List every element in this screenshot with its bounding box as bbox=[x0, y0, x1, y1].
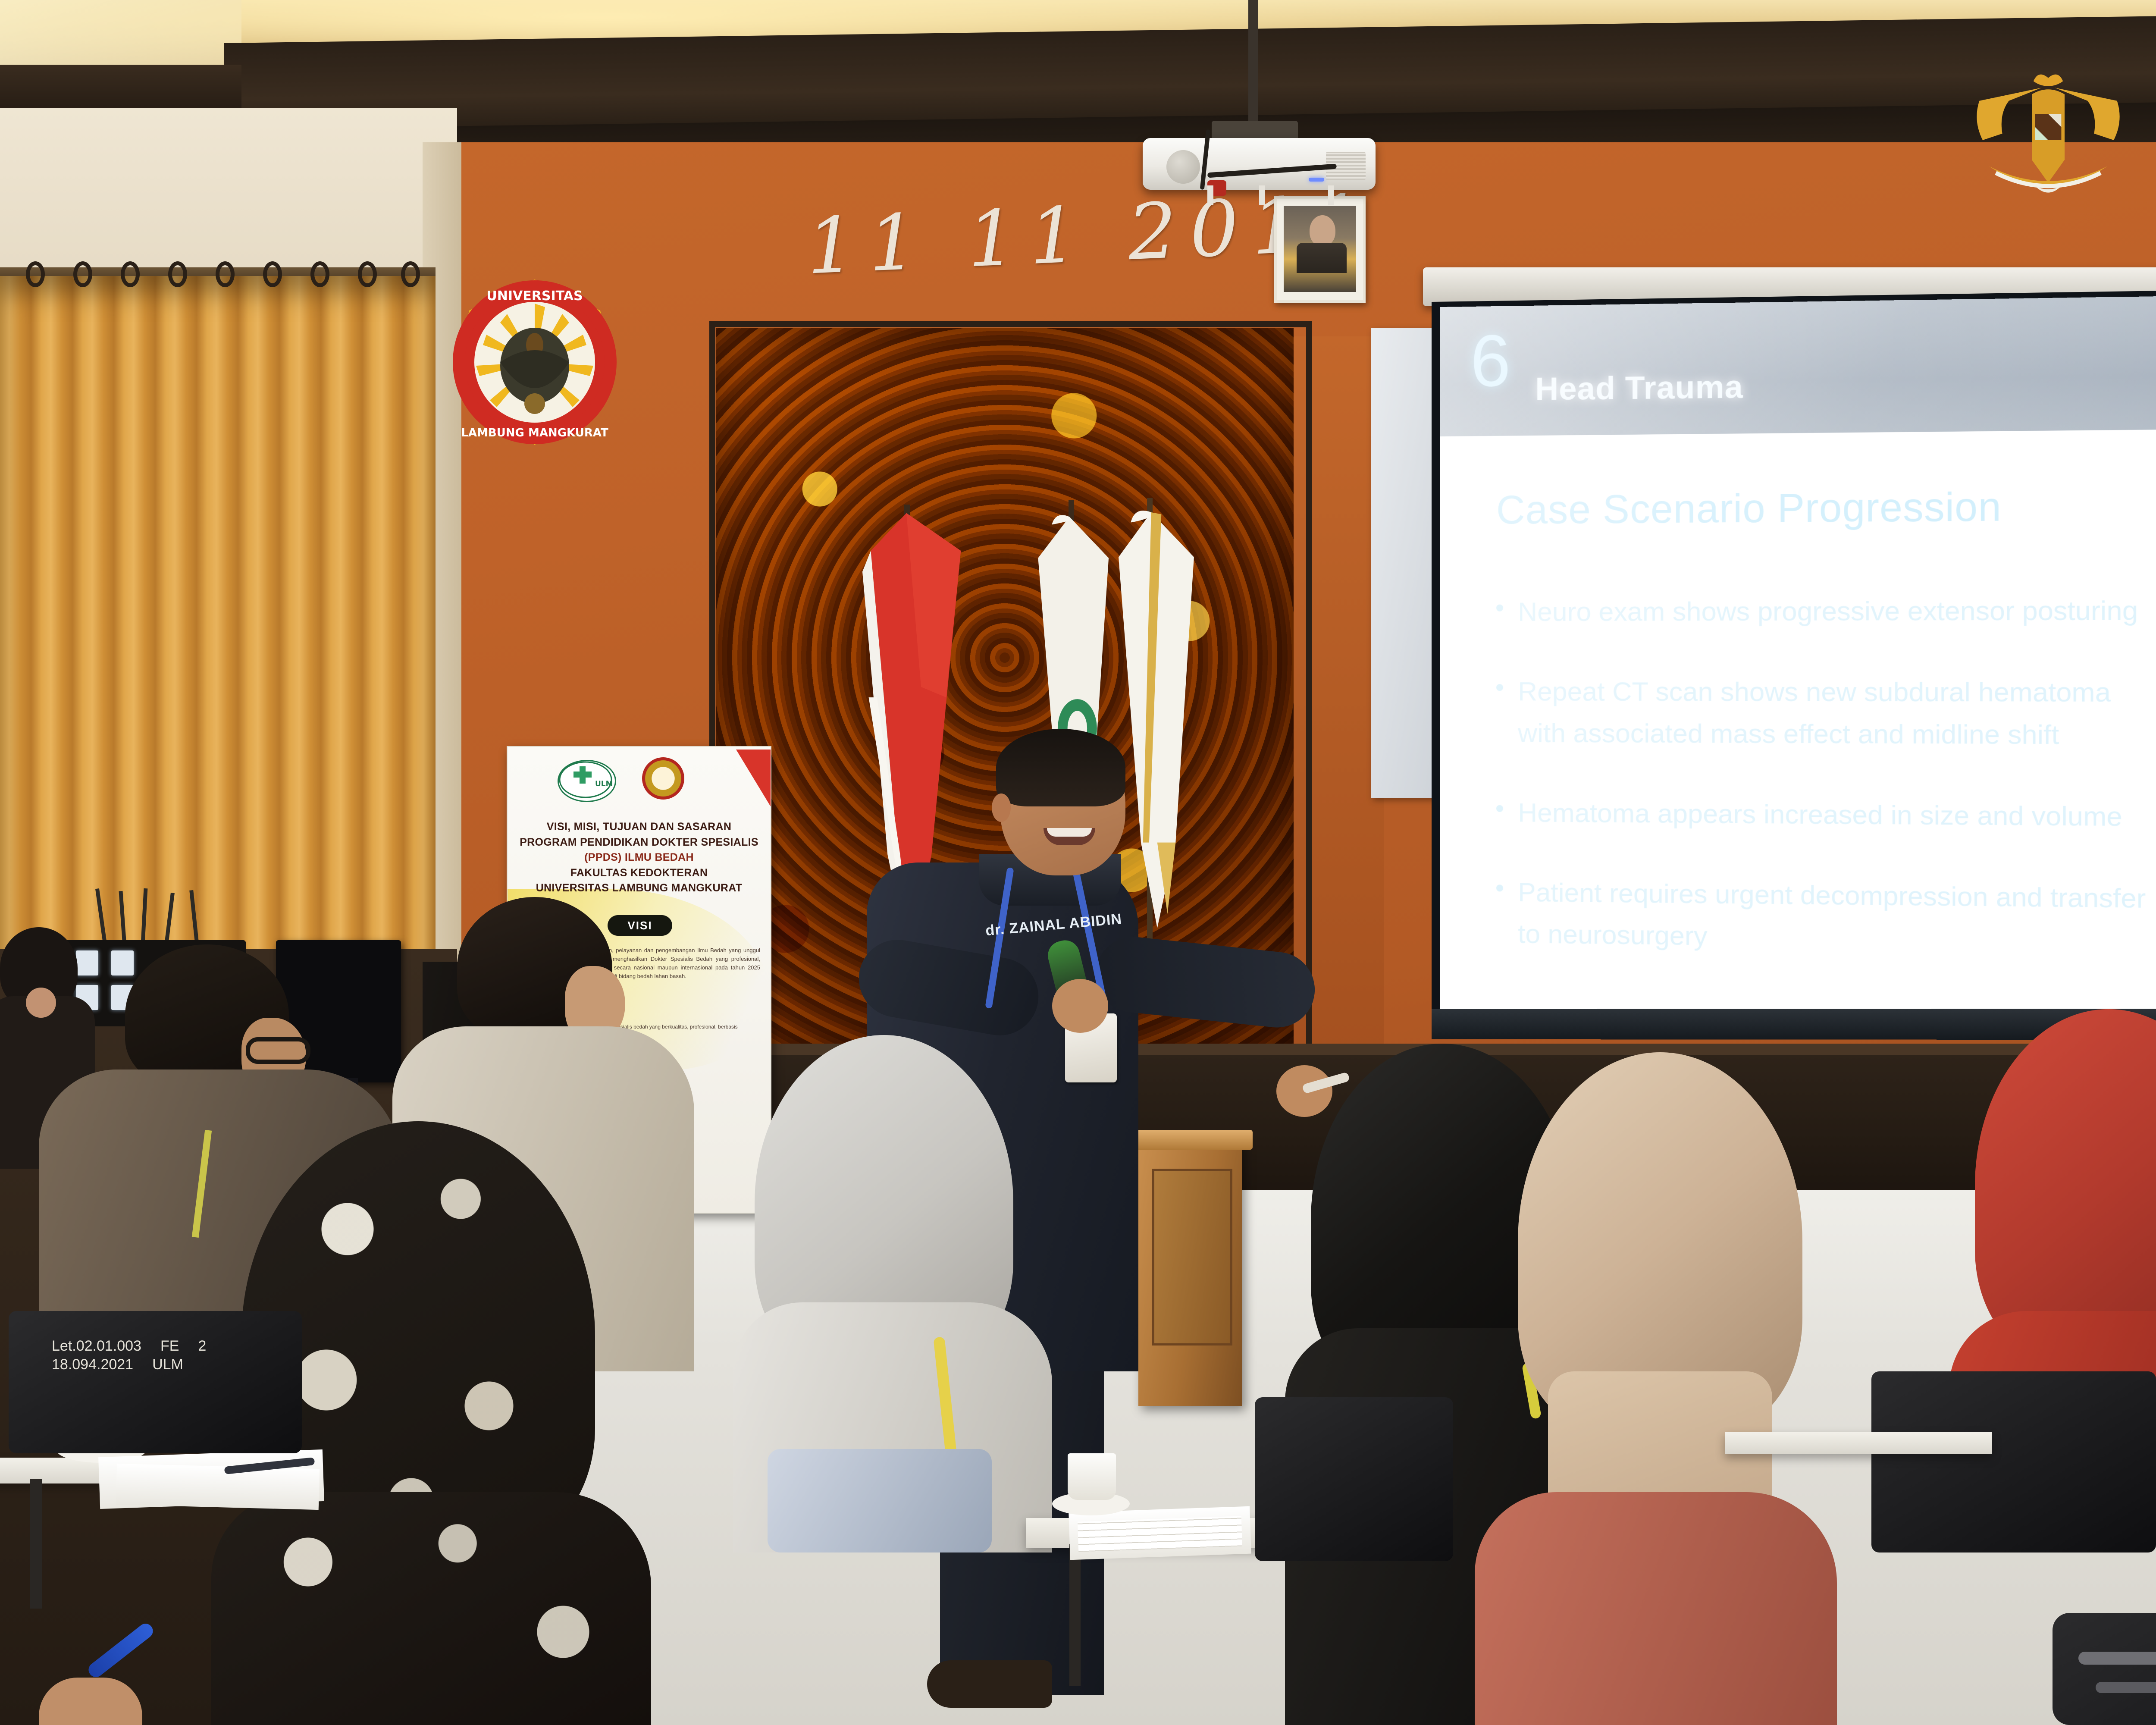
bullet-dot-icon bbox=[1496, 605, 1503, 612]
podium-top bbox=[1128, 1130, 1253, 1150]
framed-portrait bbox=[1274, 196, 1366, 303]
slide-bullet-text: Repeat CT scan shows new subdural hemato… bbox=[1518, 671, 2153, 757]
garuda-pancasila-icon bbox=[1966, 65, 2130, 216]
microphone-stands bbox=[91, 888, 237, 949]
curtain-ring bbox=[358, 261, 377, 287]
slide-section-number: 6 bbox=[1470, 324, 1511, 398]
slide-bullet-text: Hematoma appears increased in size and v… bbox=[1518, 792, 2122, 838]
slide-bullet: Hematoma appears increased in size and v… bbox=[1496, 792, 2153, 839]
curtain-ring bbox=[121, 261, 140, 287]
chair-label-code: Let.02.01.003 bbox=[52, 1337, 141, 1355]
slide-bullet-text: Neuro exam shows progressive extensor po… bbox=[1518, 590, 2138, 633]
slide-bullet-list: Neuro exam shows progressive extensor po… bbox=[1496, 590, 2153, 1002]
projector-leg bbox=[1328, 185, 1334, 205]
university-emblem-icon: UNIVERSITAS LAMBUNG MANGKURAT bbox=[448, 276, 621, 448]
svg-text:UNIVERSITAS: UNIVERSITAS bbox=[486, 289, 583, 304]
poster-title: VISI, MISI, TUJUAN DAN SASARAN PROGRAM P… bbox=[514, 819, 764, 896]
chair-label-org: ULM bbox=[152, 1355, 183, 1374]
notebook-lines bbox=[1078, 1516, 1242, 1552]
slide-section-title: Head Trauma bbox=[1535, 368, 1743, 407]
chair-frame bbox=[2096, 1682, 2156, 1693]
poster-logo-health-icon: ULM bbox=[558, 760, 616, 802]
mic-stand bbox=[189, 890, 199, 946]
curtain-ring bbox=[168, 261, 187, 287]
chair-asset-label: Let.02.01.003 FE 2 18.094.2021 ULM bbox=[52, 1337, 250, 1374]
chair-back[interactable] bbox=[9, 1311, 302, 1453]
chair-label-date: 18.094.2021 bbox=[52, 1355, 133, 1374]
projection-screen[interactable]: 6 Head Trauma Case Scenario Progression … bbox=[1440, 290, 2156, 1027]
podium-front-panel bbox=[1152, 1169, 1232, 1345]
speaker-teeth bbox=[1047, 828, 1092, 837]
portrait-head bbox=[1310, 215, 1335, 246]
svg-text:ULM: ULM bbox=[595, 780, 612, 788]
curtain-ring bbox=[216, 261, 235, 287]
projector-mount-pipe bbox=[1248, 0, 1258, 129]
presentation-slide: 6 Head Trauma Case Scenario Progression … bbox=[1440, 290, 2156, 1027]
audience-member bbox=[1483, 1052, 1828, 1725]
slide-bullet: Repeat CT scan shows new subdural hemato… bbox=[1496, 671, 2153, 757]
eyeglasses-icon bbox=[246, 1037, 310, 1064]
poster-title-line: (PPDS) ILMU BEDAH bbox=[514, 850, 764, 866]
poster-corner-accent bbox=[736, 750, 771, 806]
coffee-cup bbox=[1068, 1453, 1116, 1500]
slide-body: Case Scenario Progression Neuro exam sho… bbox=[1440, 426, 2156, 1027]
mic-stand bbox=[141, 888, 148, 944]
slide-header-band: 6 Head Trauma bbox=[1440, 290, 2156, 436]
gold-curtains bbox=[0, 276, 436, 966]
curtain-ring bbox=[401, 261, 420, 287]
hijab bbox=[1975, 1009, 2156, 1363]
projector-leg bbox=[1207, 185, 1213, 205]
curtain-ring bbox=[26, 261, 45, 287]
slide-bullet: Patient requires urgent decompression an… bbox=[1496, 872, 2153, 963]
poster-title-line: VISI, MISI, TUJUAN DAN SASARAN bbox=[514, 819, 764, 835]
projector-status-led bbox=[1309, 178, 1324, 182]
svg-text:LAMBUNG MANGKURAT: LAMBUNG MANGKURAT bbox=[461, 427, 608, 439]
speaker-hair bbox=[996, 729, 1125, 806]
curtain-ring bbox=[73, 261, 92, 287]
chair-back[interactable] bbox=[1255, 1397, 1453, 1561]
mic-stand bbox=[119, 891, 126, 947]
desk bbox=[1725, 1432, 1992, 1454]
poster-title-line: FAKULTAS KEDOKTERAN bbox=[514, 866, 764, 881]
bullet-dot-icon bbox=[1496, 885, 1503, 892]
slide-bullet-text: Patient requires urgent decompression an… bbox=[1518, 872, 2153, 963]
projector-lens-icon bbox=[1166, 150, 1200, 184]
speaker-shoe bbox=[927, 1660, 1052, 1708]
projector-legs bbox=[1199, 185, 1341, 205]
desk-leg bbox=[1069, 1544, 1081, 1686]
bullet-dot-icon bbox=[1496, 684, 1503, 691]
bullet-dot-icon bbox=[1496, 805, 1503, 812]
photo-scene: 11 11 2011 UNIVERSITAS LA bbox=[0, 0, 2156, 1725]
chair-frame bbox=[2078, 1652, 2156, 1665]
poster-logo-university-icon bbox=[642, 757, 684, 800]
slide-subtitle: Case Scenario Progression bbox=[1496, 484, 2002, 533]
chair-back[interactable] bbox=[1871, 1371, 2156, 1552]
audience-torso bbox=[211, 1492, 651, 1725]
chair-label-dept: FE bbox=[160, 1337, 179, 1355]
poster-title-line: PROGRAM PENDIDIKAN DOKTER SPESIALIS bbox=[514, 835, 764, 850]
poster-title-line: UNIVERSITAS LAMBUNG MANGKURAT bbox=[514, 881, 764, 896]
portrait-body bbox=[1297, 243, 1347, 273]
desk-leg bbox=[30, 1479, 42, 1609]
paper-sheet bbox=[116, 1464, 320, 1510]
speaker-ear bbox=[992, 793, 1011, 822]
portrait-photo bbox=[1284, 206, 1356, 292]
audience-jacket bbox=[768, 1449, 992, 1552]
projector-leg bbox=[1259, 185, 1265, 205]
curtain-ring bbox=[263, 261, 282, 287]
audience-torso bbox=[1475, 1492, 1837, 1725]
slide-bullet: Neuro exam shows progressive extensor po… bbox=[1496, 590, 2153, 633]
curtain-ring bbox=[310, 261, 329, 287]
chair-back[interactable] bbox=[2053, 1613, 2156, 1725]
speaker-left-hand bbox=[1052, 979, 1108, 1033]
chair-label-num: 2 bbox=[198, 1337, 206, 1355]
audience-member bbox=[707, 1035, 1061, 1552]
